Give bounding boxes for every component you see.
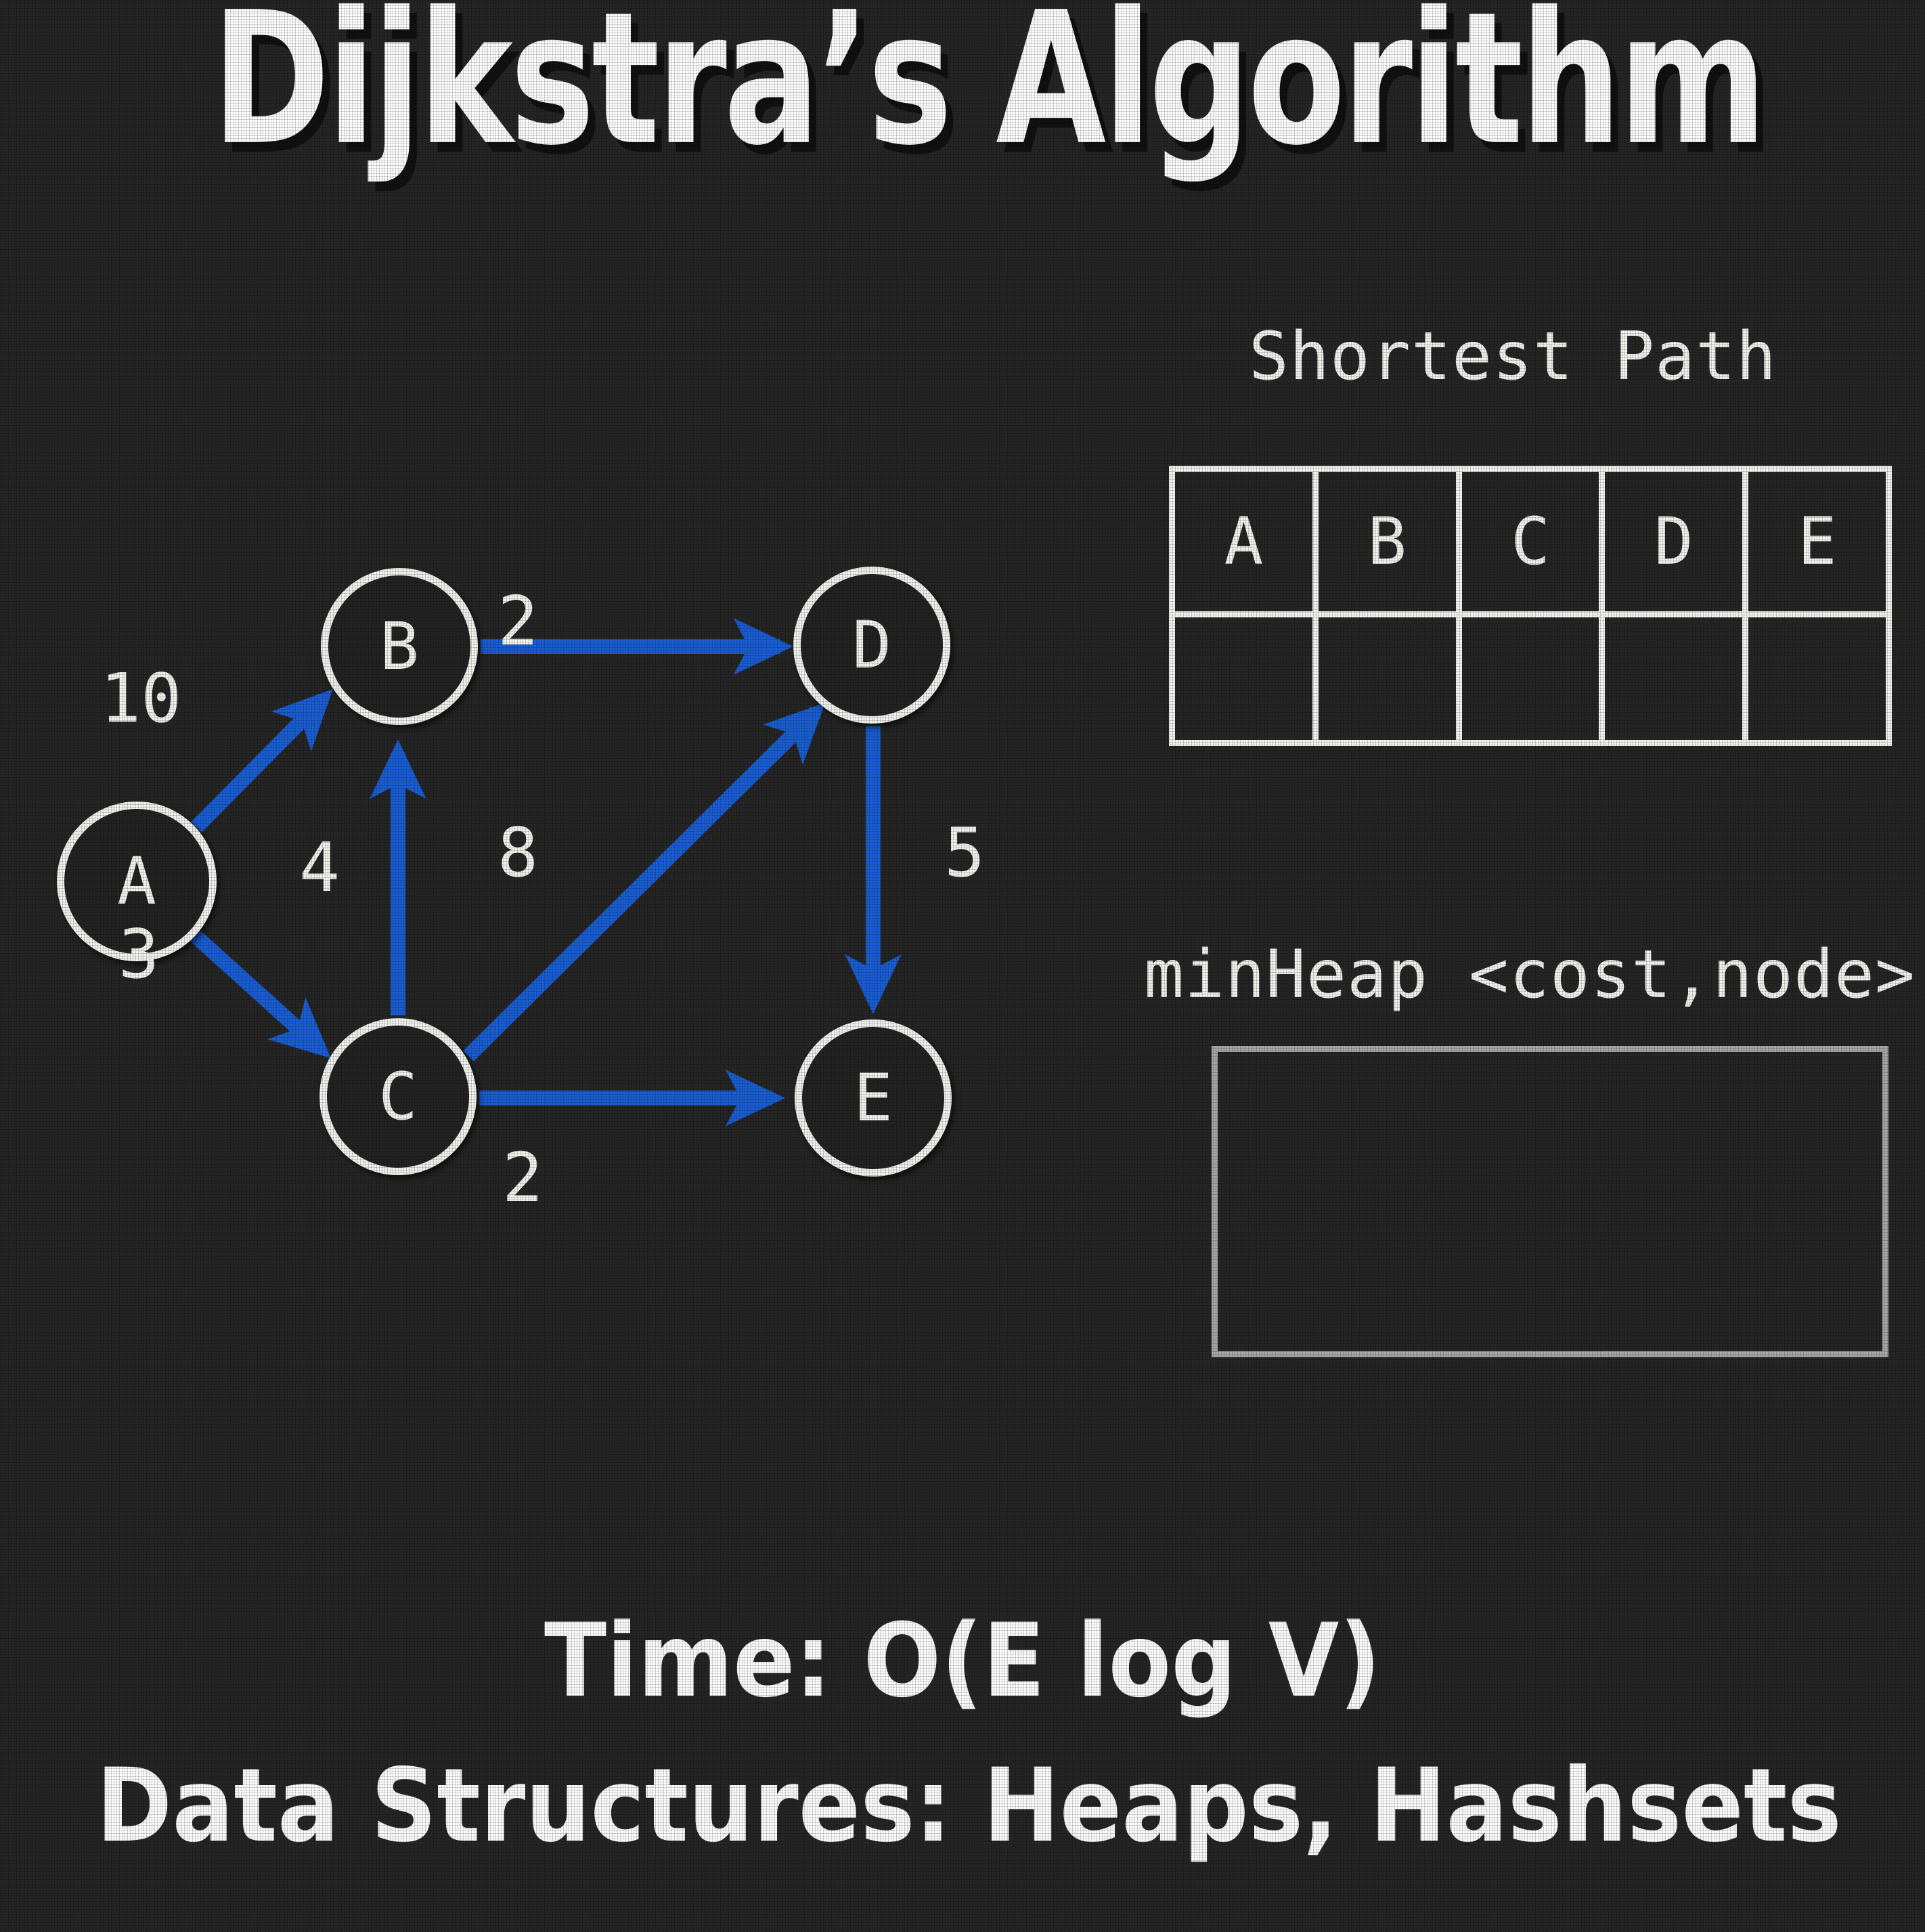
table-value-cell-a[interactable] (1175, 617, 1319, 740)
graph-node-b-label: B (380, 614, 419, 679)
graph-diagram: A B C D E 10 3 2 4 8 2 5 (0, 514, 1056, 1273)
shortest-path-title: Shortest Path (1249, 318, 1777, 395)
graph-node-d-label: D (852, 613, 891, 678)
graph-node-d[interactable]: D (793, 567, 950, 724)
shortest-path-table: A B C D E (1169, 466, 1892, 746)
graph-node-b[interactable]: B (321, 568, 478, 725)
table-header-cell-a: A (1175, 472, 1319, 611)
edge-a-b (196, 699, 324, 827)
minheap-title: minHeap <cost,node> (1144, 936, 1916, 1013)
table-header-cell-b: B (1319, 472, 1462, 611)
graph-node-e[interactable]: E (795, 1019, 952, 1177)
slide-canvas: Dijkstra’s Algorithm A (0, 0, 1925, 1932)
edge-weight-d-e: 5 (944, 819, 985, 887)
graph-node-a-label: A (117, 849, 156, 914)
table-header-cell-c: C (1462, 472, 1606, 611)
table-value-cell-d[interactable] (1605, 617, 1748, 740)
edge-a-c (195, 936, 321, 1049)
graph-node-c-label: C (378, 1064, 418, 1129)
edge-weight-c-b: 4 (299, 834, 340, 902)
edge-weight-a-b: 10 (100, 665, 181, 732)
table-header-row: A B C D E (1175, 472, 1886, 617)
edge-weight-c-d: 8 (497, 819, 538, 887)
table-value-row (1175, 617, 1886, 740)
minheap-box[interactable] (1212, 1046, 1888, 1357)
graph-node-e-label: E (854, 1066, 893, 1130)
edge-weight-b-d: 2 (497, 588, 538, 655)
table-header-cell-e: E (1748, 472, 1886, 611)
table-value-cell-e[interactable] (1748, 617, 1886, 740)
footer-time-complexity: Time: O(E log V) (96, 1604, 1829, 1718)
table-header-cell-d: D (1605, 472, 1748, 611)
table-value-cell-c[interactable] (1462, 617, 1606, 740)
footer-data-structures: Data Structures: Heaps, Hashsets (96, 1749, 1829, 1863)
edge-weight-a-c: 3 (118, 921, 159, 988)
page-title: Dijkstra’s Algorithm (212, 0, 1713, 171)
edge-weight-c-e: 2 (502, 1144, 543, 1212)
graph-node-c[interactable]: C (319, 1018, 477, 1175)
table-value-cell-b[interactable] (1319, 617, 1462, 740)
footer: Time: O(E log V) Data Structures: Heaps,… (0, 1604, 1925, 1863)
